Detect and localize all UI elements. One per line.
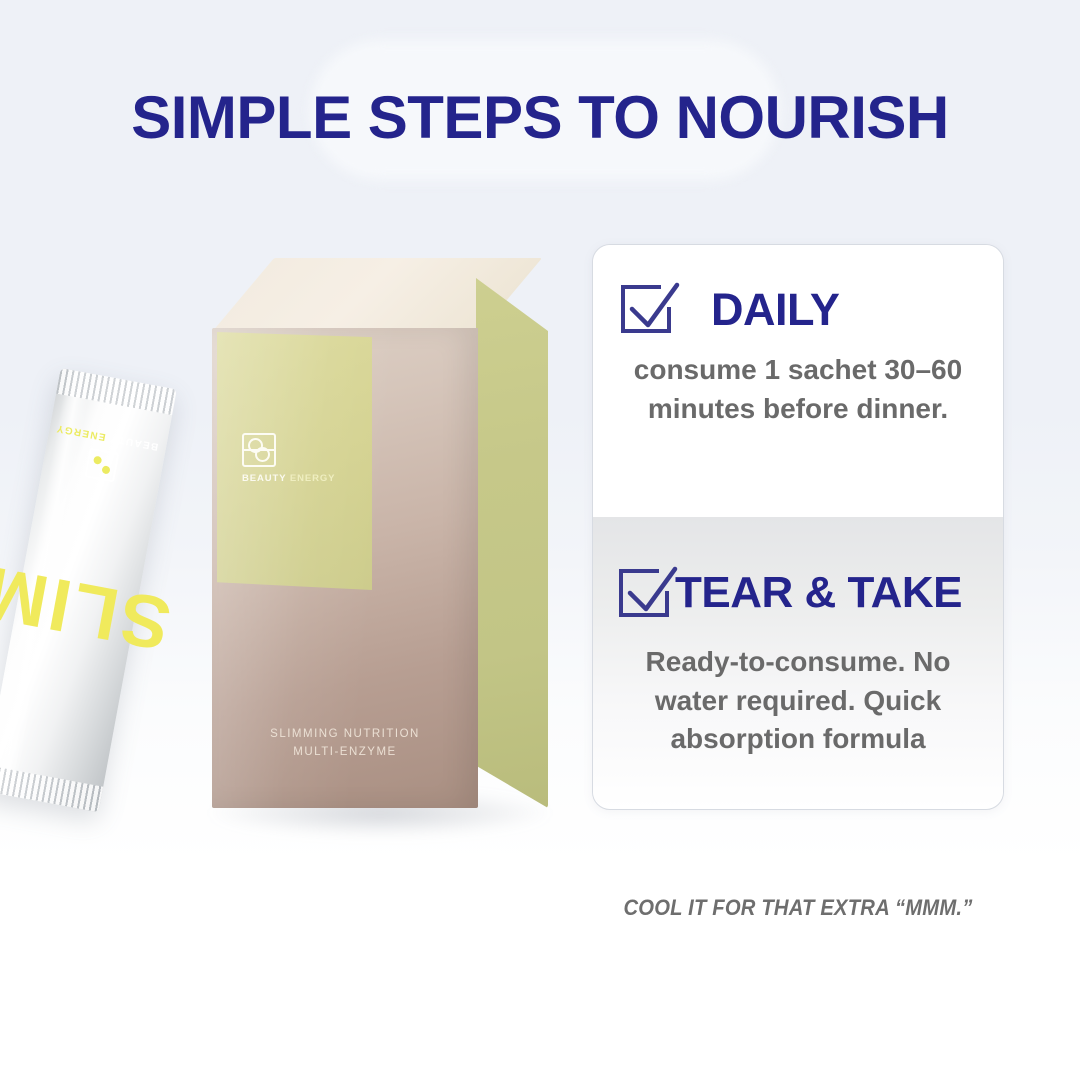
step-title-tear-take: TEAR & TAKE	[675, 571, 962, 615]
box-side-face	[476, 278, 548, 808]
product-box: BEAUTY ENERGY SLIMMING NUTRITION MULTI-E…	[212, 258, 552, 818]
step-header-tear-take: TEAR & TAKE	[593, 517, 1003, 621]
box-front-face: BEAUTY ENERGY SLIMMING NUTRITION MULTI-E…	[212, 328, 478, 808]
box-descriptor-line-1: SLIMMING NUTRITION	[212, 726, 478, 744]
box-descriptor-line-2: MULTI-ENZYME	[212, 744, 478, 762]
brand-monogram-icon	[84, 448, 119, 483]
step-panel-tear-take: TEAR & TAKE Ready-to-consume. No water r…	[593, 517, 1003, 809]
instructions-card: DAILY consume 1 sachet 30–60 minutes bef…	[592, 244, 1004, 810]
promo-graphic: SIMPLE STEPS TO NOURISH SLIM BEAUTY ENER…	[0, 0, 1080, 1080]
box-brand-part-1: BEAUTY	[242, 473, 286, 484]
product-sachet: SLIM BEAUTY ENERGY	[0, 368, 177, 812]
box-brand-text: BEAUTY ENERGY	[242, 473, 352, 484]
step-header-daily: DAILY	[593, 245, 1003, 337]
box-brand-part-2: ENERGY	[290, 473, 336, 484]
box-descriptor: SLIMMING NUTRITION MULTI-ENZYME	[212, 726, 478, 762]
product-scene: SLIM BEAUTY ENERGY BEAUTY EN	[0, 0, 600, 1080]
sachet-crimp-bottom	[0, 765, 103, 812]
footer-tagline: COOL IT FOR THAT EXTRA “MMM.”	[608, 895, 987, 921]
step-description-tear-take: Ready-to-consume. No water required. Qui…	[593, 643, 1003, 759]
step-panel-daily: DAILY consume 1 sachet 30–60 minutes bef…	[593, 245, 1003, 517]
brand-monogram-icon	[242, 433, 276, 467]
step-description-daily: consume 1 sachet 30–60 minutes before di…	[593, 351, 1003, 428]
checkbox-check-icon	[617, 565, 679, 621]
step-title-daily: DAILY	[711, 287, 839, 332]
box-logo: BEAUTY ENERGY	[242, 433, 352, 484]
checkbox-check-icon	[619, 281, 681, 337]
